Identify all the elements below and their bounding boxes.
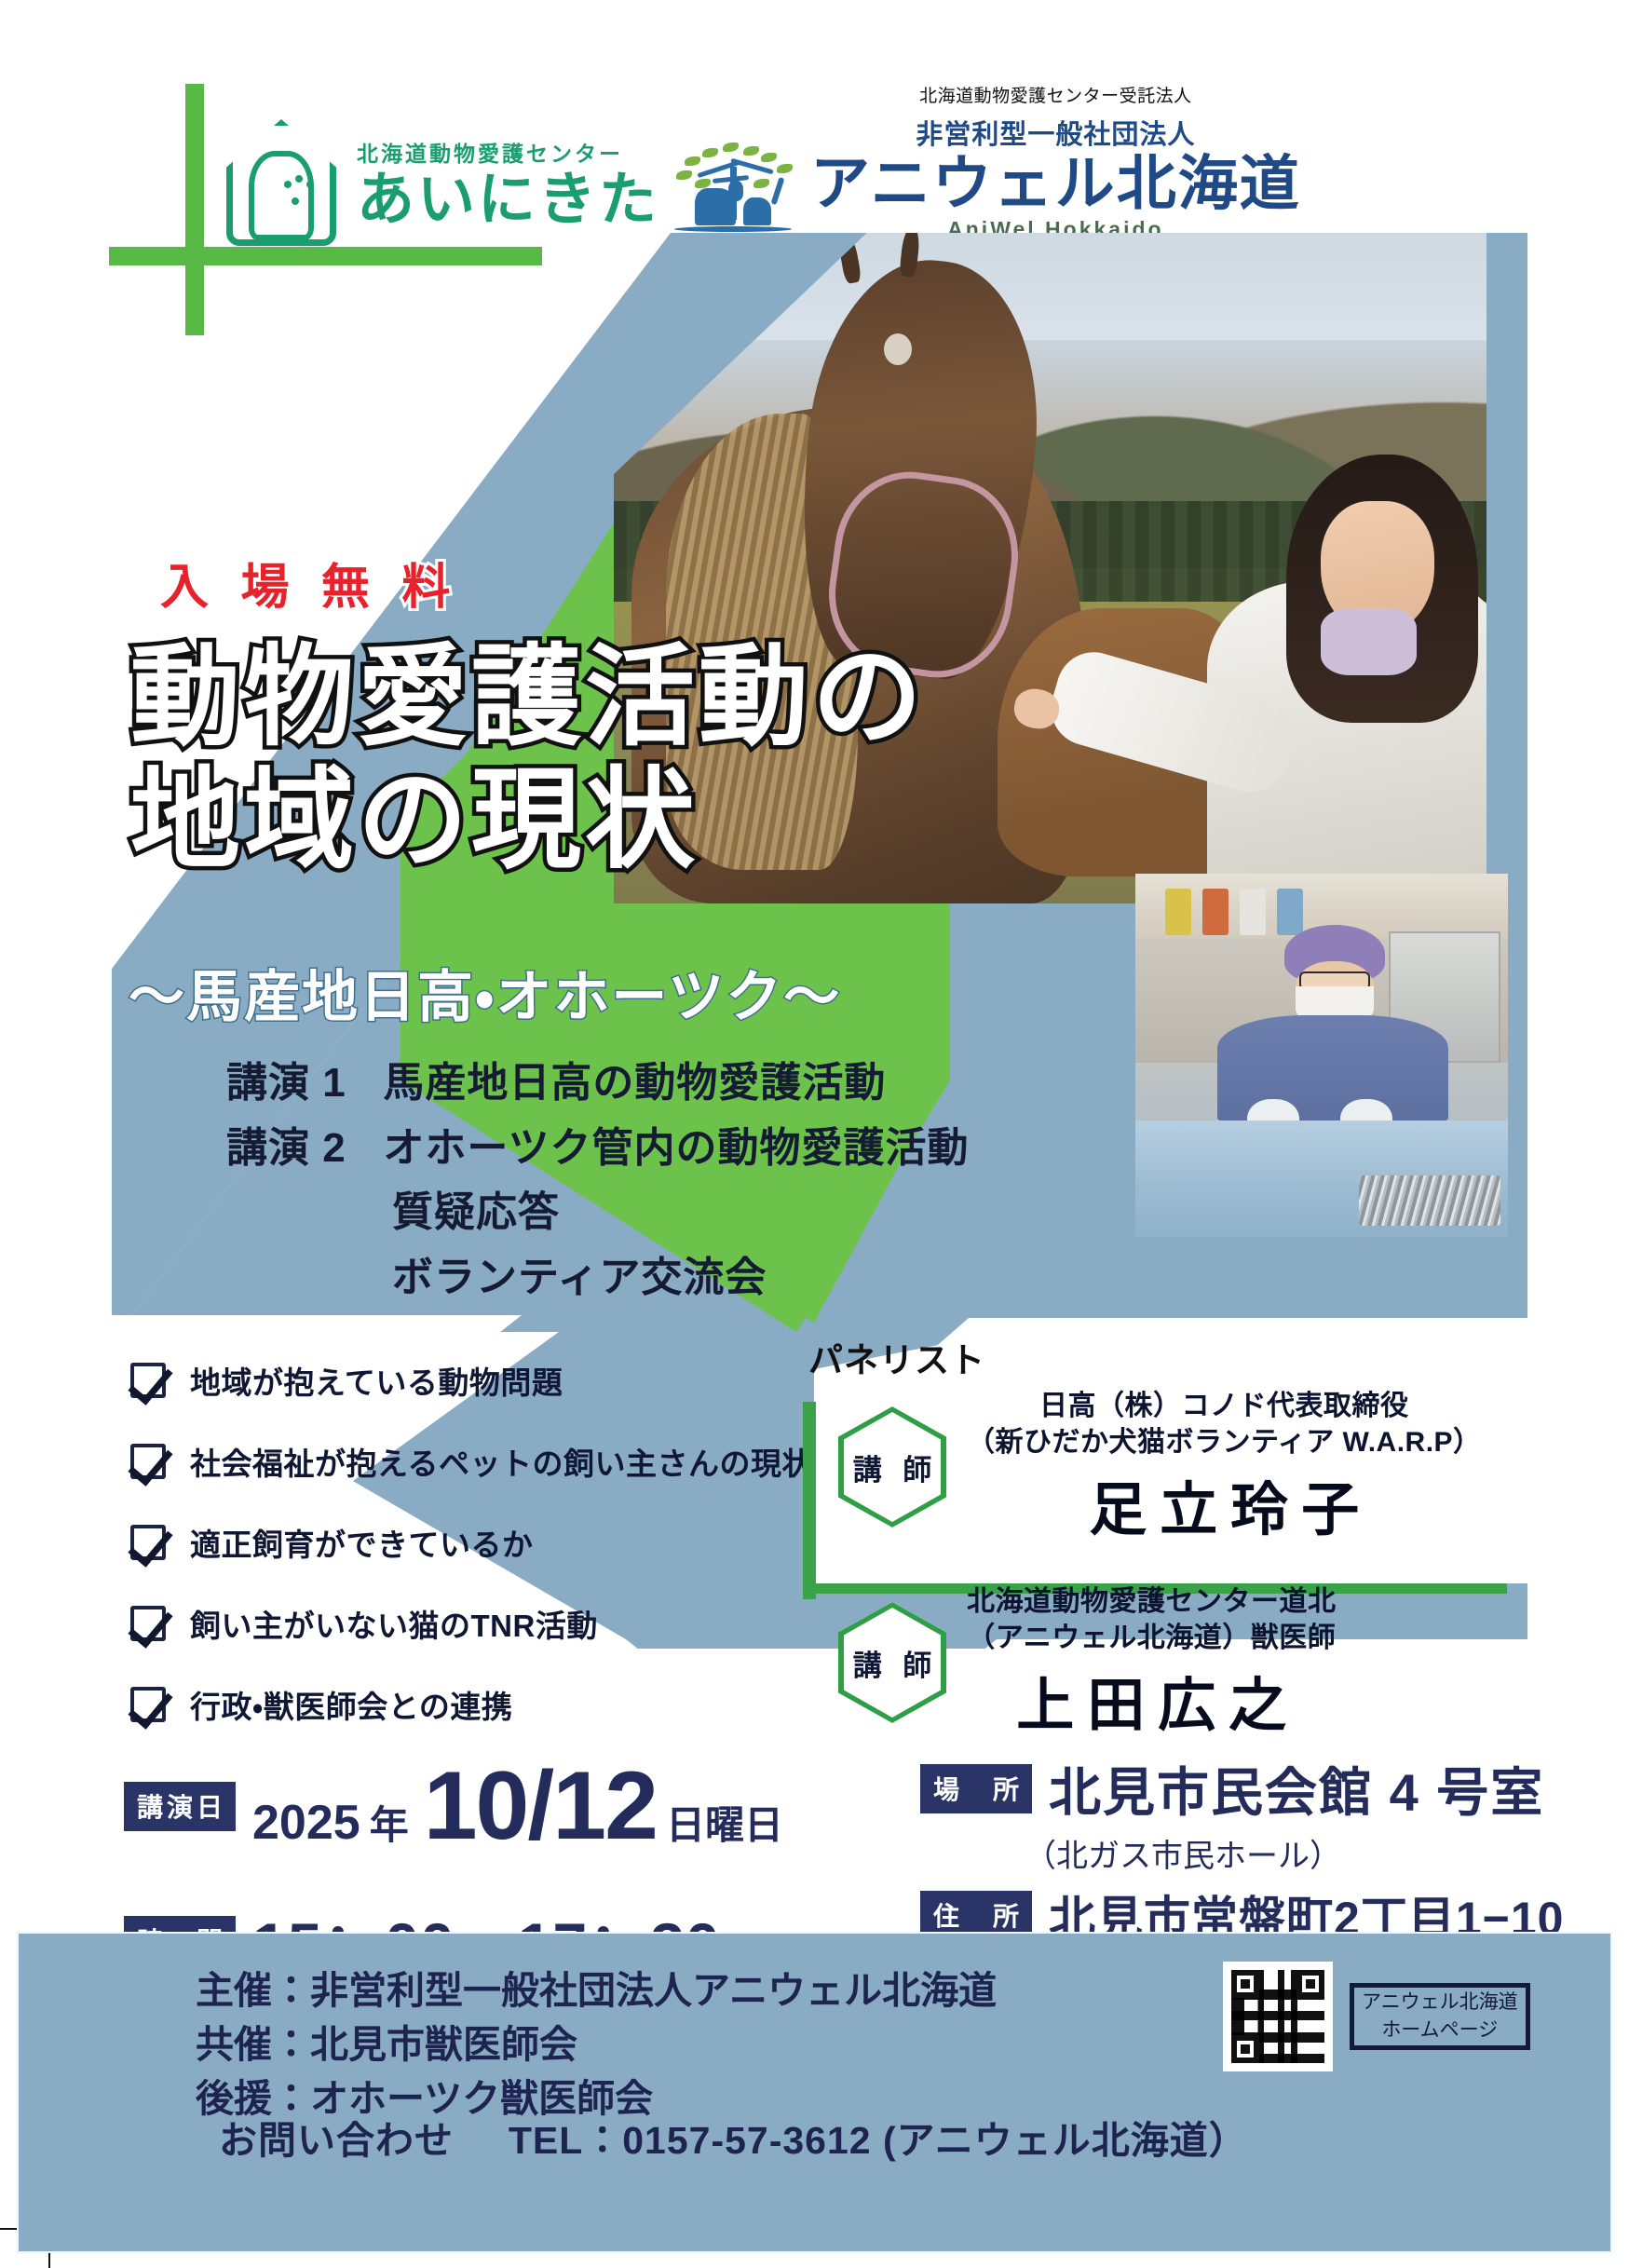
green-accent-bar-horizontal <box>109 247 542 265</box>
hexagon-badge-icon: 講 師 <box>838 1406 946 1528</box>
speaker-name: 足立玲子 <box>967 1462 1482 1546</box>
place-tag: 場 所 <box>920 1764 1032 1813</box>
list-item: 行政・獣医師会との連携 <box>130 1673 813 1736</box>
speaker-entry: 講 師 日高（株）コノド代表取締役 （新ひだか犬猫ボランティア W.A.R.P）… <box>838 1388 1482 1546</box>
place-subtitle: （北ガス市民ホール） <box>1025 1830 1564 1876</box>
contact-line: お問い合わせ TEL：0157-57-3612 (アニウェル北海道） <box>219 2109 1248 2165</box>
date-month-day: 10/12 <box>424 1751 657 1862</box>
program-list: 講演 1 馬産地日高の動物愛護活動 講演 2 オホーツク管内の動物愛護活動 質疑… <box>226 1051 970 1310</box>
checkmark-icon <box>130 1606 166 1641</box>
organizer-list: 主催：非営利型一般社団法人アニウェル北海道 共催：北見市獣医師会 後援：オホーツ… <box>196 1963 997 2126</box>
page-title: 動物愛護活動の 地域の現状 <box>130 636 926 882</box>
event-poster: 北海道動物愛護センター あいにきた 北海道動物愛護センター受託法人 <box>0 0 1629 2268</box>
list-item: 社会福祉が抱えるペットの飼い主さんの現状 <box>130 1430 813 1493</box>
hexagon-badge-icon: 講 師 <box>838 1602 946 1723</box>
date-year-unit: 年 <box>370 1794 409 1851</box>
program-item: 講演 2 オホーツク管内の動物愛護活動 <box>226 1116 970 1181</box>
qr-caption-line1: アニウェル北海道 <box>1362 1989 1518 2017</box>
checklist-label: 適正飼育ができているか <box>190 1520 534 1565</box>
list-item: 適正飼育ができているか <box>130 1511 813 1574</box>
logo-ainikita: 北海道動物愛護センター あいにきた <box>226 119 659 246</box>
title-line-2: 地域の現状 <box>130 759 926 882</box>
checklist-label: 行政・獣医師会との連携 <box>190 1682 512 1727</box>
checklist-label: 飼い主がいない猫のTNR活動 <box>190 1601 598 1646</box>
speaker-affiliation-line2: （アニウェル北海道）獣医師 <box>967 1620 1337 1656</box>
program-item-prefix: 講演 1 <box>226 1060 346 1106</box>
contact-phone[interactable]: TEL：0157-57-3612 (アニウェル北海道） <box>509 2119 1248 2162</box>
checklist-label: 社会福祉が抱えるペットの飼い主さんの現状 <box>190 1439 813 1484</box>
program-item: ボランティア交流会 <box>226 1245 970 1311</box>
qr-code-block[interactable]: アニウェル北海道 ホームページ <box>1223 1962 1530 2071</box>
green-accent-bar-vertical <box>185 84 204 335</box>
checklist-label: 地域が抱えている動物問題 <box>190 1358 563 1403</box>
speaker-affiliation-line2: （新ひだか犬猫ボランティア W.A.R.P） <box>967 1424 1482 1460</box>
contact-label: お問い合わせ <box>219 2119 454 2162</box>
qr-caption-line2: ホームページ <box>1362 2017 1518 2044</box>
house-hands-pet-icon <box>226 119 336 246</box>
date-tag: 講演日 <box>124 1782 236 1831</box>
speaker-badge-label: 講 師 <box>847 1446 939 1488</box>
topic-checklist: 地域が抱えている動物問題 社会福祉が抱えるペットの飼い主さんの現状 適正飼育がで… <box>130 1349 813 1754</box>
qr-code-caption: アニウェル北海道 ホームページ <box>1350 1983 1530 2051</box>
program-item-text: オホーツク管内の動物愛護活動 <box>383 1125 969 1171</box>
venue-row: 場 所 北見市民会館 4 号室 <box>920 1751 1564 1827</box>
logo-aniwel: 北海道動物愛護センター受託法人 非営利型一般社団法人 アニウェル北海道 AniW… <box>669 82 1301 242</box>
tree-dog-cat-icon <box>669 140 797 242</box>
aniwel-tiny-text: 北海道動物愛護センター受託法人 <box>810 82 1301 107</box>
program-item: 講演 1 馬産地日高の動物愛護活動 <box>226 1051 970 1116</box>
aniwel-name: アニウェル北海道 <box>810 154 1301 213</box>
place-value: 北見市民会館 4 号室 <box>1049 1751 1544 1827</box>
ainikita-name: あいにきた <box>357 171 659 229</box>
panelist-green-accent-vertical <box>803 1402 816 1599</box>
program-item-text: 質疑応答 <box>392 1189 560 1235</box>
checkmark-icon <box>130 1444 166 1479</box>
speaker-affiliation-line1: 日高（株）コノド代表取締役 <box>967 1388 1482 1424</box>
program-item-prefix: 講演 2 <box>226 1125 346 1171</box>
panelist-section-label: パネリスト <box>808 1332 985 1382</box>
event-venue-block: 場 所 北見市民会館 4 号室 （北ガス市民ホール） 住 所 北見市常盤町2丁目… <box>920 1751 1564 1949</box>
crop-mark-top-right-h <box>1601 48 1629 50</box>
crop-mark-top-right <box>1509 0 1511 28</box>
speaker-name: 上田広之 <box>967 1658 1337 1742</box>
checkmark-icon <box>130 1687 166 1722</box>
veterinarian-surgery-photo <box>1135 874 1508 1237</box>
subtitle: 〜馬産地日高・オホーツク〜 <box>129 952 841 1033</box>
speaker-entry: 講 師 北海道動物愛護センター道北 （アニウェル北海道）獣医師 上田広之 <box>838 1583 1337 1742</box>
organizer-host: 主催：非営利型一般社団法人アニウェル北海道 <box>196 1963 997 2017</box>
list-item: 飼い主がいない猫のTNR活動 <box>130 1592 813 1655</box>
program-item: 質疑応答 <box>226 1180 970 1245</box>
speaker-affiliation-line1: 北海道動物愛護センター道北 <box>967 1583 1337 1620</box>
free-admission-badge: 入 場 無 料 <box>160 548 459 618</box>
event-date-row: 講演日 2025 年 10/12 日曜日 <box>124 1751 783 1862</box>
qr-code-icon[interactable] <box>1223 1962 1333 2071</box>
title-line-1: 動物愛護活動の <box>130 636 926 759</box>
program-item-text: ボランティア交流会 <box>392 1255 767 1300</box>
organizer-cohost: 共催：北見市獣医師会 <box>196 2017 997 2071</box>
aniwel-sub-text: 非営利型一般社団法人 <box>810 113 1301 152</box>
ainikita-tagline: 北海道動物愛護センター <box>357 136 659 168</box>
program-item-text: 馬産地日高の動物愛護活動 <box>383 1060 886 1106</box>
list-item: 地域が抱えている動物問題 <box>130 1349 813 1412</box>
checkmark-icon <box>130 1525 166 1560</box>
speaker-badge-label: 講 師 <box>847 1642 939 1684</box>
checkmark-icon <box>130 1363 166 1398</box>
date-weekday: 日曜日 <box>666 1794 783 1851</box>
date-year: 2025 <box>252 1795 360 1851</box>
